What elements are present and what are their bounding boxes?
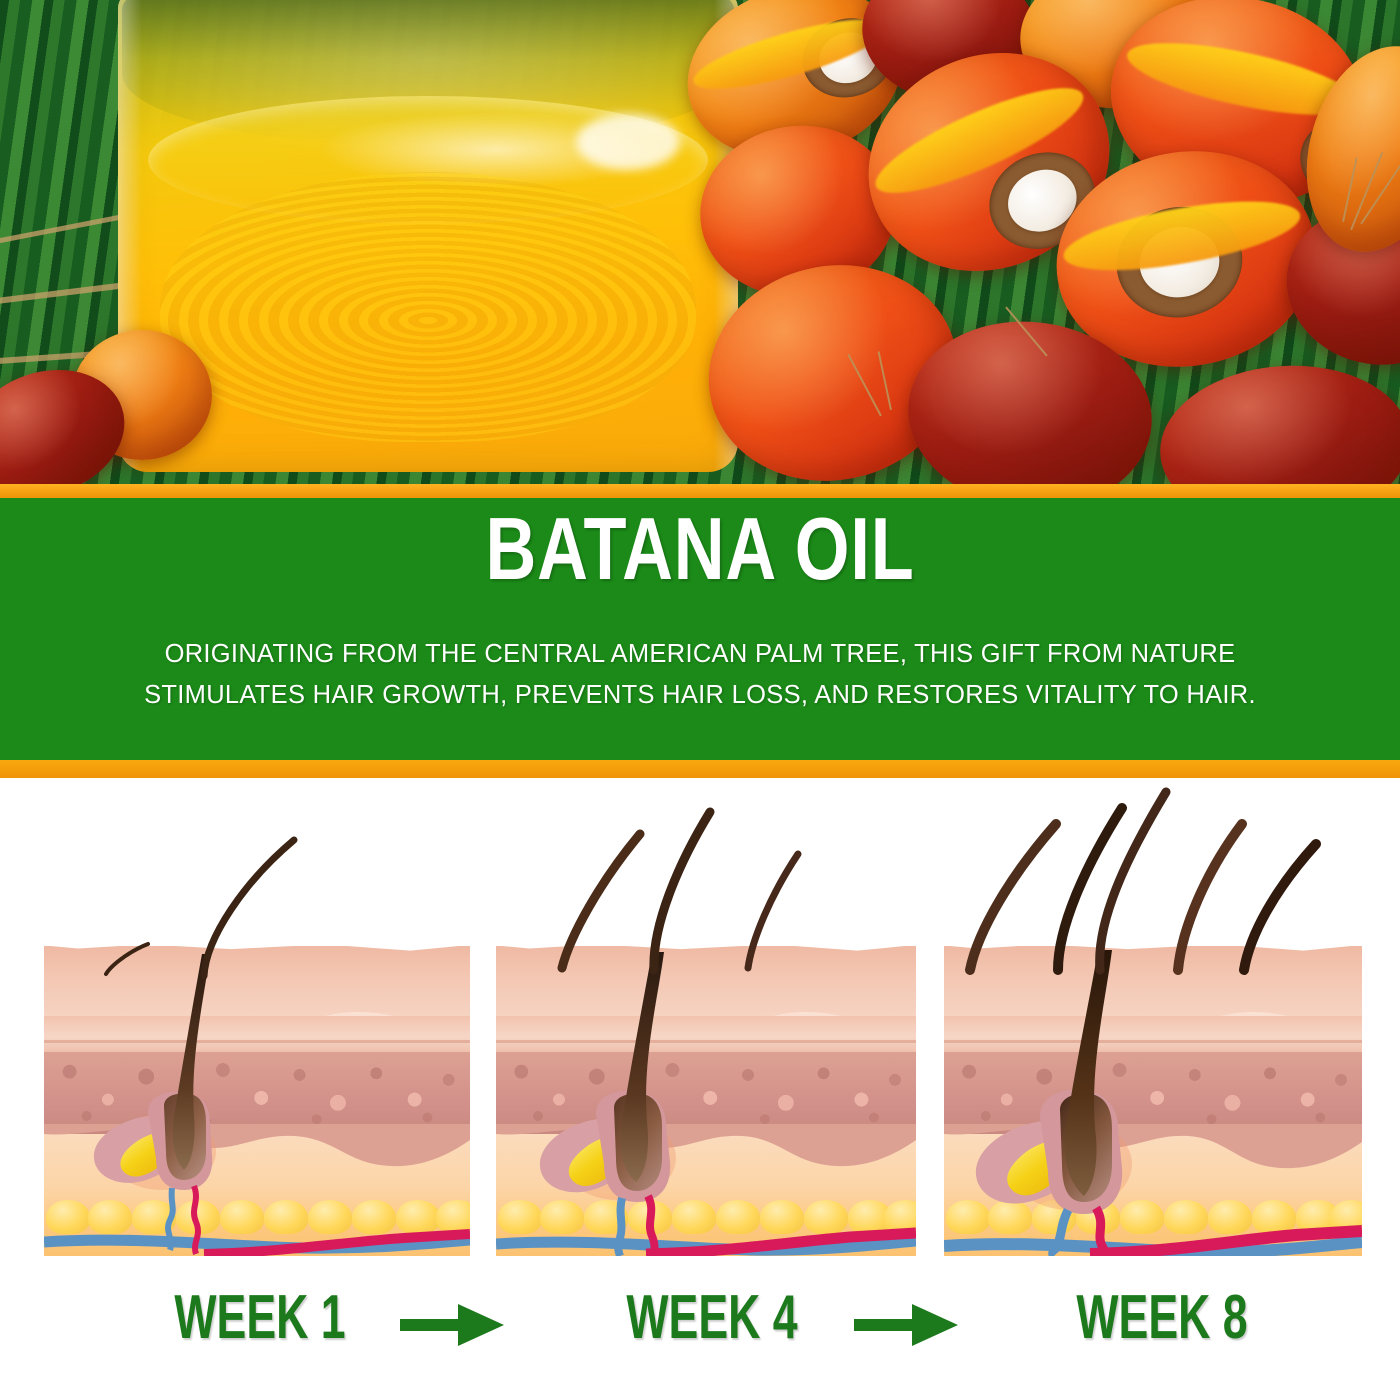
subtitle-line-2: STIMULATES HAIR GROWTH, PREVENTS HAIR LO…	[70, 675, 1330, 716]
timeline-label-week-4: WEEK 4	[604, 1282, 820, 1353]
skin-diagram-week-1	[44, 778, 470, 1268]
batana-oil-infographic: BATANA OIL ORIGINATING FROM THE CENTRAL …	[0, 0, 1400, 1400]
palm-kernel	[1108, 197, 1251, 327]
skin-diagram-week-8	[944, 778, 1362, 1268]
specular-highlight	[576, 114, 680, 170]
divider-orange-bottom	[0, 760, 1400, 778]
hair-growth-timeline-diagrams	[0, 778, 1400, 1278]
timeline-labels: WEEK 1 WEEK 4 WEEK 8	[0, 1282, 1400, 1374]
timeline-label-week-8: WEEK 8	[1054, 1282, 1270, 1353]
hair-shafts-week-1	[44, 778, 470, 1280]
page-title: BATANA OIL	[140, 500, 1260, 599]
hair-shafts-week-8	[944, 778, 1362, 1280]
divider-orange-top	[0, 484, 1400, 498]
subtitle-line-1: ORIGINATING FROM THE CENTRAL AMERICAN PA…	[70, 634, 1330, 675]
palm-fruit-cluster	[690, 0, 1400, 484]
hero-photo	[0, 0, 1400, 484]
palm-fruit	[1155, 357, 1400, 484]
oil-swirl-pattern	[160, 172, 696, 442]
hair-shafts-week-4	[496, 778, 916, 1280]
banner-subtitle: ORIGINATING FROM THE CENTRAL AMERICAN PA…	[70, 634, 1330, 717]
arrow-right-icon	[852, 1300, 960, 1350]
arrow-right-icon	[398, 1300, 506, 1350]
timeline-label-week-1: WEEK 1	[152, 1282, 368, 1353]
skin-diagram-week-4	[496, 778, 916, 1268]
